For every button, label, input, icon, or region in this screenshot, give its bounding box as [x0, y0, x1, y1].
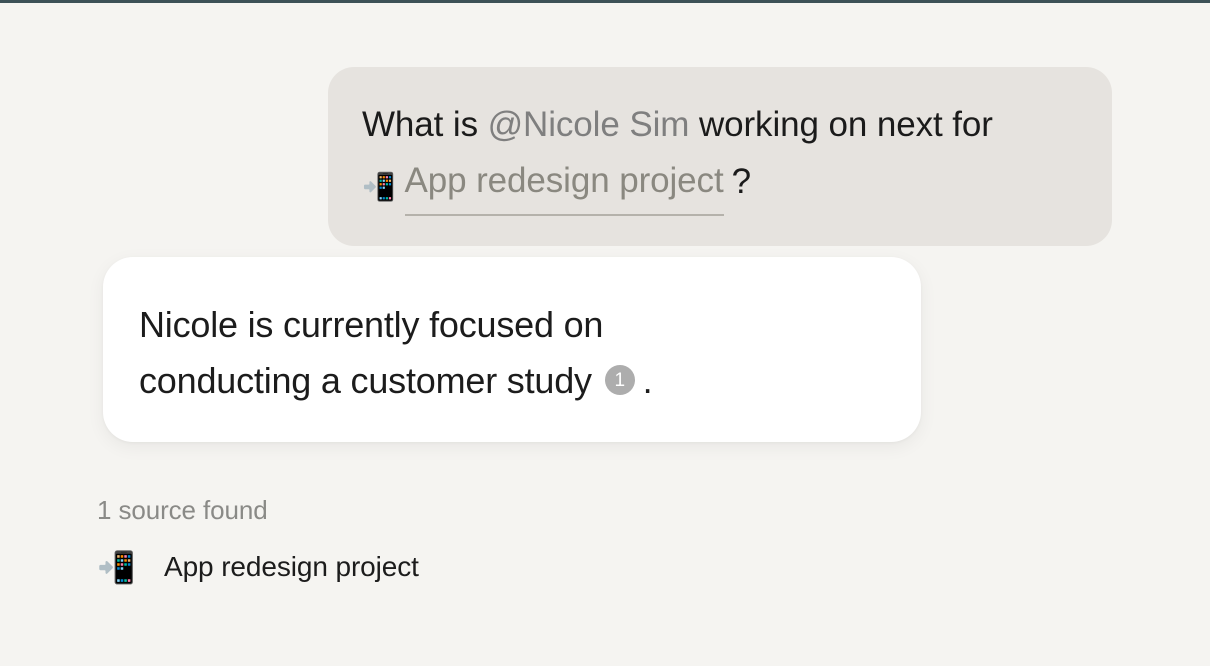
question-middle-text: working on next for: [689, 105, 992, 144]
source-item-app-redesign-project[interactable]: 📲 App redesign project: [97, 549, 797, 585]
mobile-phone-with-arrow-icon: 📲: [362, 174, 396, 201]
source-item-label: App redesign project: [164, 549, 419, 585]
assistant-answer-card: Nicole is currently focused on conductin…: [103, 257, 921, 442]
answer-line-2: conducting a customer study 1.: [139, 353, 881, 409]
conversation-stage: What is @Nicole Sim working on next for …: [0, 3, 1210, 666]
answer-period-text: .: [643, 360, 653, 401]
question-line-2: 📲App redesign project?: [362, 153, 1078, 216]
question-mark-text: ?: [732, 162, 751, 201]
citation-badge-1[interactable]: 1: [605, 365, 635, 395]
answer-line-1: Nicole is currently focused on: [139, 297, 881, 353]
document-chip-app-redesign-project[interactable]: 📲App redesign project: [362, 153, 724, 216]
question-prefix-text: What is: [362, 105, 488, 144]
document-chip-label: App redesign project: [405, 153, 724, 216]
answer-line-2-text: conducting a customer study: [139, 360, 592, 401]
mention-nicole-sim[interactable]: @Nicole Sim: [488, 105, 690, 144]
question-line-1: What is @Nicole Sim working on next for: [362, 97, 1078, 153]
sources-section: 1 source found 📲 App redesign project: [97, 493, 797, 585]
mobile-phone-with-arrow-icon: 📲: [97, 552, 143, 583]
sources-heading: 1 source found: [97, 493, 797, 527]
user-question-bubble: What is @Nicole Sim working on next for …: [328, 67, 1112, 246]
